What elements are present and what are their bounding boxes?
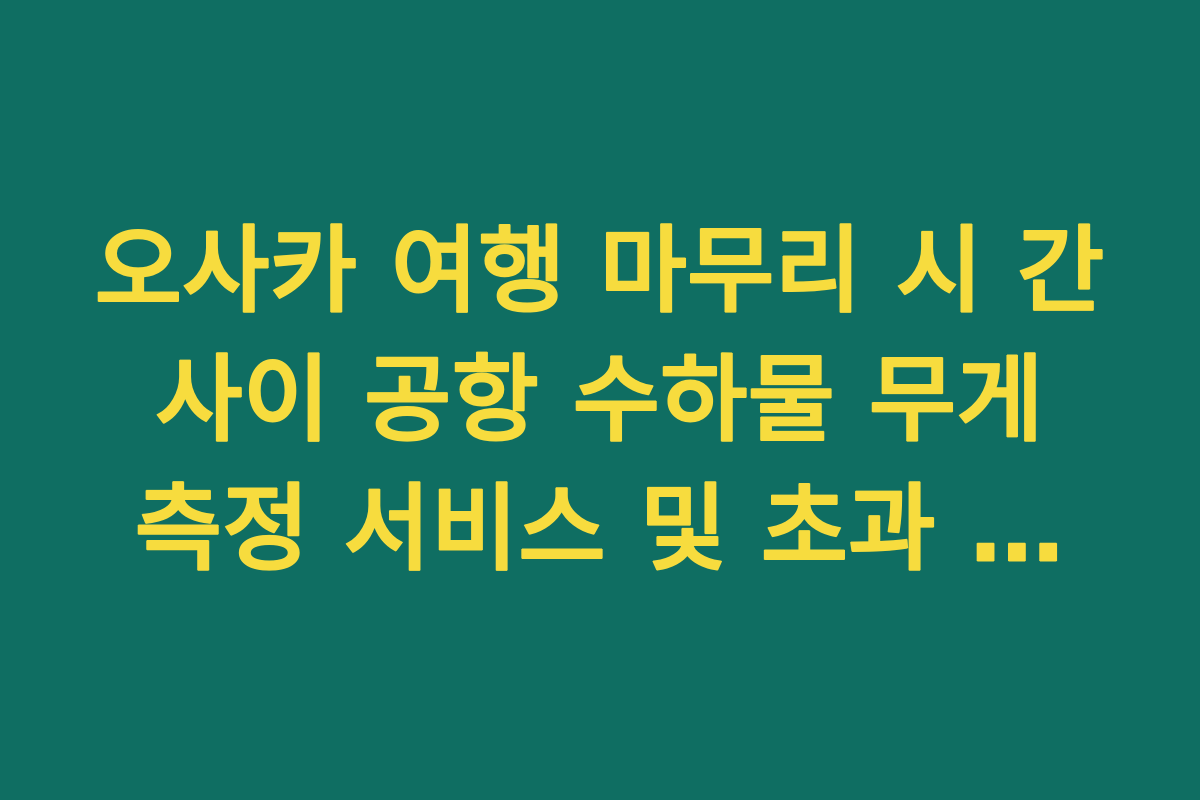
headline-block: 오사카 여행 마무리 시 간 사이 공항 수하물 무게 측정 서비스 및 초과 … xyxy=(50,207,1150,594)
headline-line-2: 사이 공항 수하물 무게 xyxy=(60,336,1140,465)
headline-line-3: 측정 서비스 및 초과 … xyxy=(60,465,1140,594)
headline-line-1: 오사카 여행 마무리 시 간 xyxy=(60,207,1140,336)
thumbnail-card: 오사카 여행 마무리 시 간 사이 공항 수하물 무게 측정 서비스 및 초과 … xyxy=(0,0,1200,800)
